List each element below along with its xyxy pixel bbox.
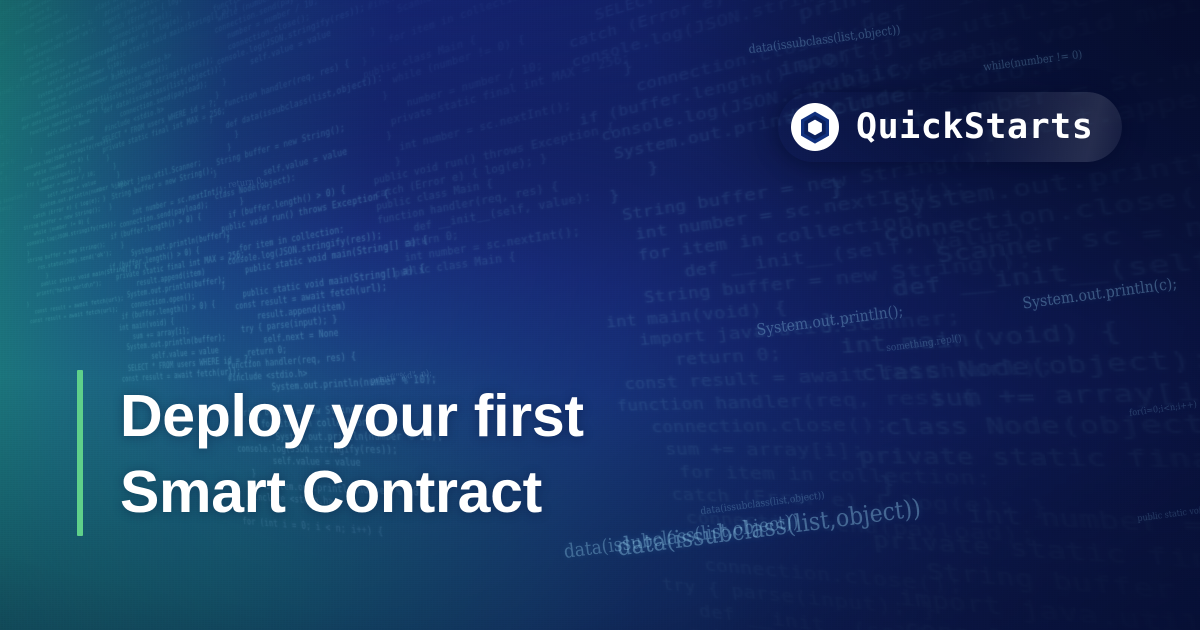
green-accent-bar — [77, 370, 83, 536]
headline-line-1: Deploy your first — [120, 378, 760, 454]
headline-block: Deploy your first Smart Contract — [120, 378, 760, 530]
quickstarts-banner: public static void main(String[] a) { co… — [0, 0, 1200, 630]
quickstarts-label: QuickStarts — [856, 110, 1093, 145]
quickstarts-badge[interactable]: QuickStarts — [778, 92, 1122, 162]
chainlink-hexagon-icon — [791, 103, 839, 151]
headline-line-2: Smart Contract — [120, 454, 760, 530]
